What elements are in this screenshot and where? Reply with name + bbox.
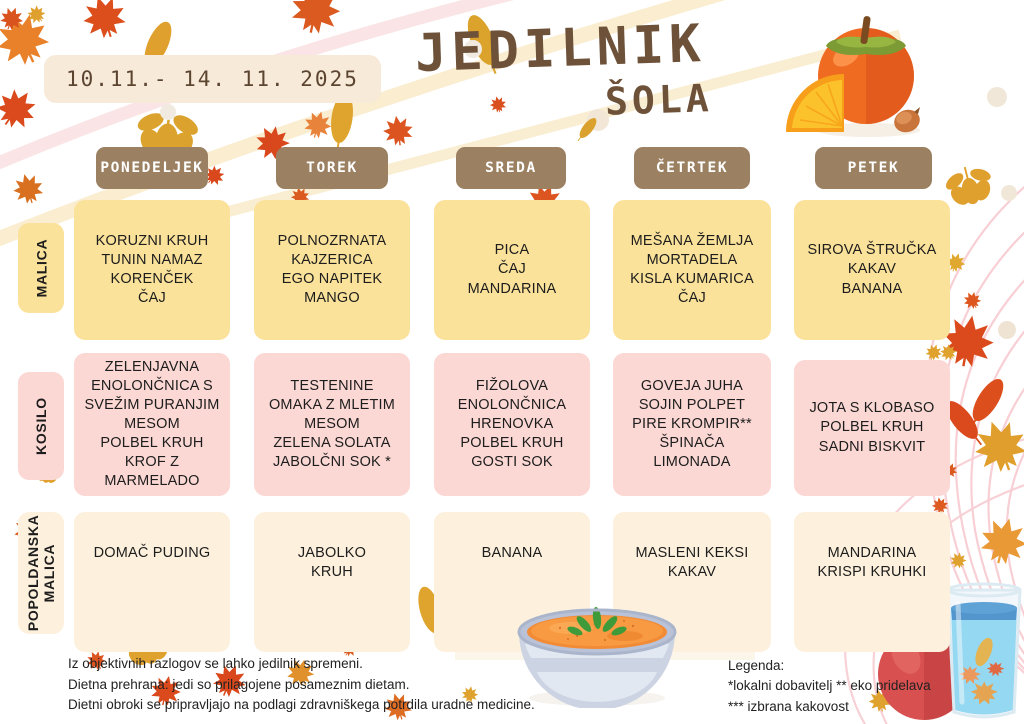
- disclaimer-line-1: Iz objektivnih razlogov se lahko jedilni…: [68, 654, 535, 675]
- disclaimer-line-2: Dietna prehrana: jedi so prilagojene pos…: [68, 675, 535, 696]
- menu-cell-kosilo-ponedeljek[interactable]: ZELENJAVNA ENOLONČNICA S SVEŽIM PURANJIM…: [74, 353, 230, 496]
- legend: Legenda: *lokalni dobavitelj ** eko prid…: [728, 656, 931, 717]
- day-header-torek: TOREK: [276, 147, 388, 189]
- legend-title: Legenda:: [728, 656, 931, 676]
- menu-cell-kosilo-cetrtek[interactable]: GOVEJA JUHA SOJIN POLPET PIRE KROMPIR** …: [613, 353, 771, 496]
- legend-line-1: *lokalni dobavitelj ** eko pridelava: [728, 676, 931, 696]
- page-title: JEDILNIK ŠOLA: [415, 22, 765, 118]
- row-label-popoldanska-malica-text: POPOLDANSKA MALICA: [25, 515, 57, 631]
- row-label-popoldanska-malica: POPOLDANSKA MALICA: [18, 512, 64, 634]
- date-range-badge: 10.11.- 14. 11. 2025: [44, 55, 381, 103]
- menu-cell-malica-petek[interactable]: SIROVA ŠTRUČKA KAKAV BANANA: [794, 200, 950, 340]
- menu-cell-malica-sreda[interactable]: PICA ČAJ MANDARINA: [434, 200, 590, 340]
- menu-cell-kosilo-petek[interactable]: JOTA S KLOBASO POLBEL KRUH SADNI BISKVIT: [794, 360, 950, 496]
- menu-cell-malica-torek[interactable]: POLNOZRNATA KAJZERICA EGO NAPITEK MANGO: [254, 200, 410, 340]
- menu-cell-popoldanska-petek[interactable]: MANDARINA KRISPI KRUHKI: [794, 512, 950, 652]
- day-header-petek: PETEK: [815, 147, 932, 189]
- title-main-text: JEDILNIK: [414, 16, 766, 80]
- menu-cell-popoldanska-ponedeljek[interactable]: DOMAČ PUDING: [74, 512, 230, 652]
- row-label-kosilo: KOSILO: [18, 372, 64, 480]
- day-header-ponedeljek: PONEDELJEK: [96, 147, 208, 189]
- disclaimer-notes: Iz objektivnih razlogov se lahko jedilni…: [68, 654, 535, 716]
- day-header-cetrtek: ČETRTEK: [634, 147, 750, 189]
- menu-cell-malica-ponedeljek[interactable]: KORUZNI KRUH TUNIN NAMAZ KORENČEK ČAJ: [74, 200, 230, 340]
- row-label-malica: MALICA: [18, 223, 64, 313]
- legend-line-2: *** izbrana kakovost: [728, 697, 931, 717]
- menu-cell-popoldanska-torek[interactable]: JABOLKO KRUH: [254, 512, 410, 652]
- menu-cell-kosilo-torek[interactable]: TESTENINE OMAKA Z MLETIM MESOM ZELENA SO…: [254, 353, 410, 496]
- day-header-sreda: SREDA: [456, 147, 566, 189]
- menu-cell-malica-cetrtek[interactable]: MEŠANA ŽEMLJA MORTADELA KISLA KUMARICA Č…: [613, 200, 771, 340]
- menu-cell-kosilo-sreda[interactable]: FIŽOLOVA ENOLONČNICA HRENOVKA POLBEL KRU…: [434, 353, 590, 496]
- row-label-kosilo-text: KOSILO: [33, 397, 49, 455]
- title-subtitle-text: ŠOLA: [604, 77, 765, 121]
- soup-bowl-illustration: [505, 598, 690, 708]
- row-label-malica-text: MALICA: [33, 239, 49, 298]
- disclaimer-line-3: Dietni obroki se pripravljajo na podlagi…: [68, 695, 535, 716]
- persimmon-fruit-illustration: [770, 8, 950, 153]
